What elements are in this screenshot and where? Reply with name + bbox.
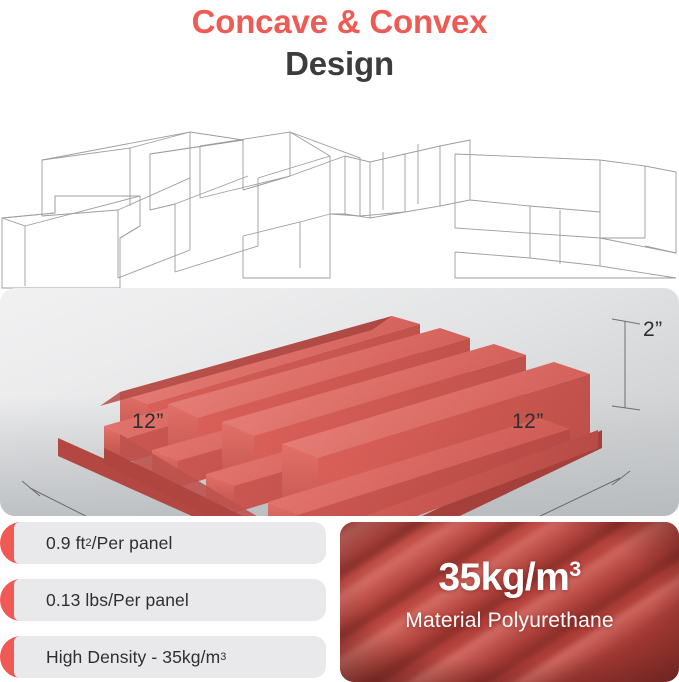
- page-title-secondary: Design: [0, 44, 679, 84]
- material-name-label: Material Polyurethane: [340, 609, 679, 633]
- feature-weight-base: 0.13 lbs/Per panel: [46, 590, 189, 611]
- feature-density-base: High Density - 35kg/m: [46, 647, 220, 668]
- product-photo-card: 12” 12” 2”: [0, 288, 679, 516]
- material-density-base: 35kg/m: [438, 556, 569, 599]
- material-density-value: 35kg/m3: [340, 556, 679, 600]
- wireframe-diagram: [0, 118, 679, 293]
- feature-label-weight: 0.13 lbs/Per panel: [46, 579, 189, 621]
- material-card: 35kg/m3 Material Polyurethane: [340, 522, 679, 682]
- feature-list: 0.9 ft2/Per panel 0.13 lbs/Per panel Hig…: [0, 522, 330, 682]
- dimension-label-height: 2”: [643, 318, 663, 342]
- foam-panel-image: [0, 288, 679, 516]
- feature-pill-density[interactable]: High Density - 35kg/m3: [0, 636, 326, 678]
- dimension-label-depth: 12”: [132, 410, 164, 434]
- feature-pill-area[interactable]: 0.9 ft2/Per panel: [0, 522, 326, 564]
- material-card-content: 35kg/m3 Material Polyurethane: [340, 522, 679, 682]
- infographic-page: Concave & Convex Design: [0, 0, 679, 682]
- feature-label-area: 0.9 ft2/Per panel: [46, 522, 172, 564]
- page-title-primary: Concave & Convex: [0, 2, 679, 42]
- feature-area-base: 0.9 ft: [46, 533, 86, 554]
- dimension-label-width: 12”: [512, 410, 544, 434]
- feature-area-tail: /Per panel: [92, 533, 173, 554]
- feature-pill-weight[interactable]: 0.13 lbs/Per panel: [0, 579, 326, 621]
- header: Concave & Convex Design: [0, 0, 679, 100]
- feature-label-density: High Density - 35kg/m3: [46, 636, 226, 678]
- material-density-superscript: 3: [569, 557, 580, 581]
